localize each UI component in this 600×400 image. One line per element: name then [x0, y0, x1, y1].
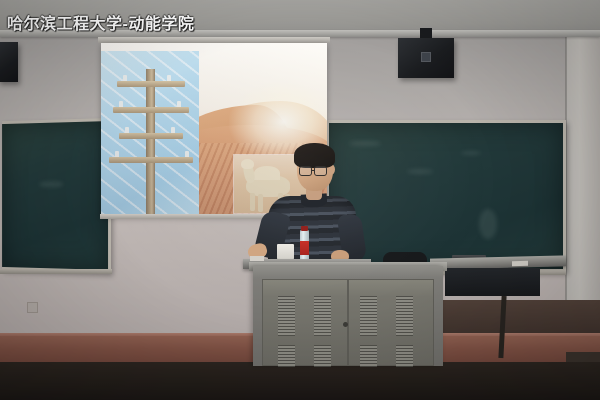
chalk-tray-left [0, 269, 112, 274]
chalk-smudge [479, 209, 497, 239]
podium-vent [396, 345, 413, 367]
slide-insulator [167, 75, 171, 81]
podium-lock-icon[interactable] [343, 322, 348, 327]
camel-head [241, 159, 254, 169]
camel-hump [254, 166, 280, 180]
desk-paper [512, 261, 528, 267]
podium-vent [278, 345, 295, 367]
speaker-cone-icon [421, 52, 431, 62]
podium-vent [396, 296, 413, 336]
left-chalkboard [2, 118, 111, 273]
podium-vent [278, 296, 295, 336]
chalk-smudge [461, 151, 481, 155]
presenter-hair [294, 143, 335, 168]
slide-insulator [123, 75, 127, 81]
slide-insulator [171, 127, 175, 133]
slide-insulator [125, 127, 129, 133]
slide-pole-arm [109, 157, 193, 163]
slide-insulator [177, 101, 181, 107]
slide-insulator [185, 151, 189, 157]
podium-vent [360, 296, 377, 336]
left-speaker-icon [0, 42, 18, 82]
podium-vent [314, 296, 331, 336]
slide-insulator [115, 151, 119, 157]
side-desk-panel [445, 268, 540, 296]
desk-paper-small [250, 256, 264, 261]
photo-caption: 哈尔滨工程大学-动能学院 [7, 10, 194, 34]
slide-pole-panel [101, 51, 199, 216]
glasses-icon [314, 166, 327, 176]
podium-vent [360, 345, 377, 367]
floor [0, 362, 600, 400]
chalk-smudge [39, 181, 64, 187]
baseboard-right [566, 352, 600, 362]
slide-pole-mast [146, 69, 155, 216]
podium-vent [314, 345, 331, 367]
bottle-label [300, 241, 309, 255]
glasses-bridge [312, 170, 315, 171]
slide-pole-arm [119, 133, 183, 139]
photo-scene: 哈尔滨工程大学-动能学院 [0, 0, 600, 400]
slide-insulator [119, 101, 123, 107]
podium-door-left[interactable] [262, 279, 348, 366]
camel-leg [258, 194, 263, 212]
slide-pole-arm [113, 107, 189, 113]
glasses-icon [299, 166, 312, 176]
camel-leg [250, 193, 255, 211]
projection-screen [101, 43, 327, 216]
bottle-cap [301, 226, 308, 231]
chalk-smudge [407, 169, 433, 174]
chalk-smudge [349, 141, 381, 146]
slide-pole-arm [117, 81, 185, 87]
wall-outlet [27, 302, 38, 313]
